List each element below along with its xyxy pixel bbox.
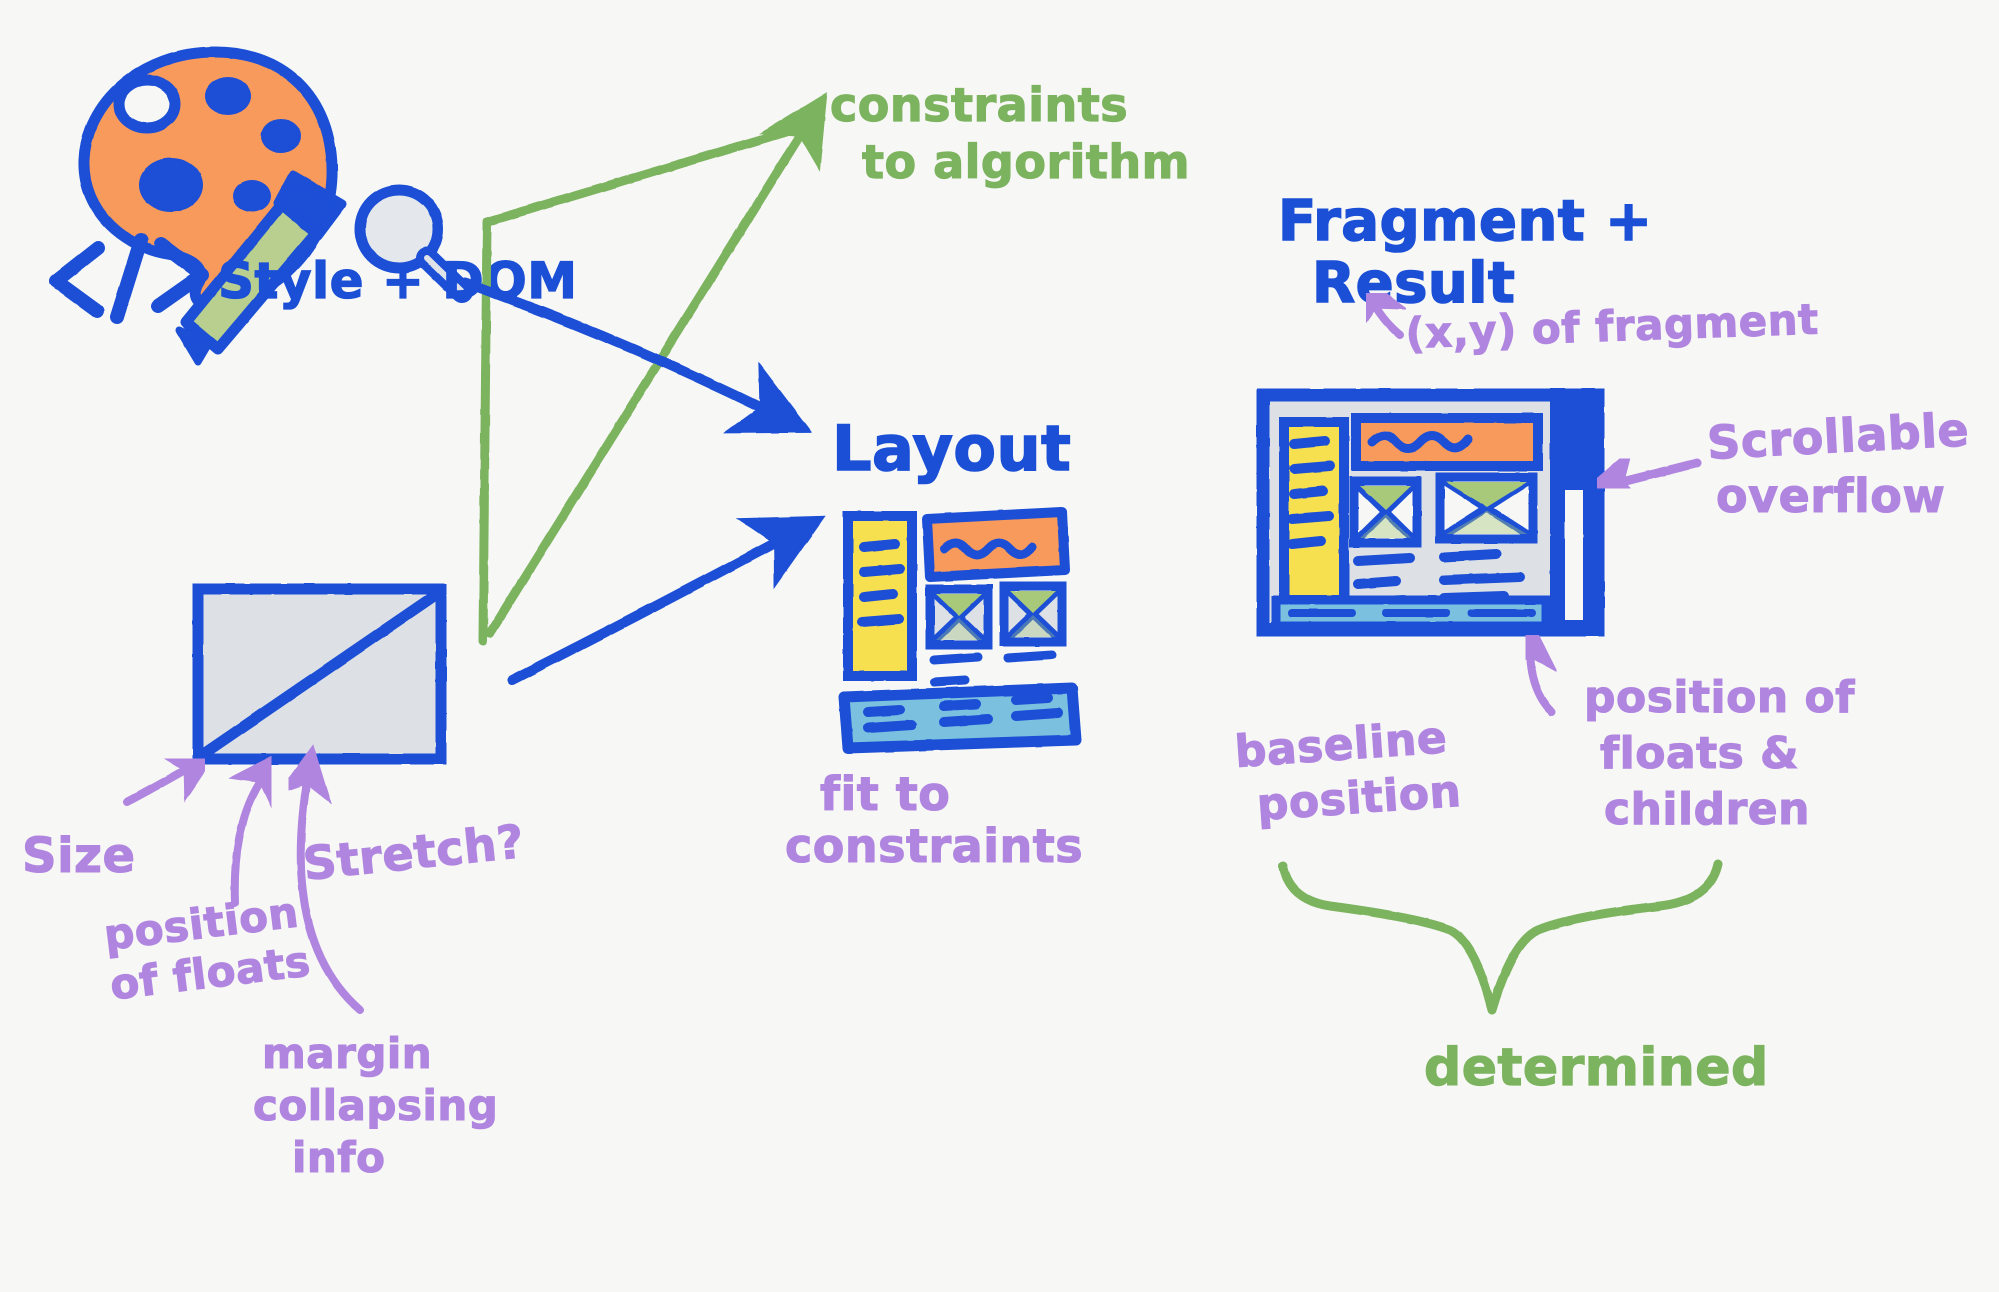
fit-to-constraints-line1: fit to [820, 767, 950, 821]
handdrawn-diagram: Style + DOM constraints to algorithm [0, 0, 1999, 1292]
floats-children-line1: position of [1584, 672, 1855, 723]
determined-label: determined [1424, 1038, 1769, 1098]
size-label: Size [22, 828, 136, 884]
constraints-label-line1: constraints [830, 78, 1128, 132]
margin-collapsing-line3: info [292, 1133, 385, 1182]
floats-children-line2: floats & [1600, 728, 1799, 779]
constraint-box-icon [198, 589, 441, 759]
fragment-result-line1: Fragment + [1278, 189, 1653, 254]
floats-children-line3: children [1604, 784, 1810, 835]
constraints-label-line2: to algorithm [862, 135, 1190, 189]
browser-mockup-layout-icon [844, 512, 1076, 748]
layout-title: Layout [832, 412, 1071, 485]
fit-to-constraints-line2: constraints [785, 819, 1083, 873]
scrollable-overflow-line2: overflow [1716, 469, 1945, 523]
browser-mockup-fragment-icon [1263, 390, 1598, 633]
diagram-canvas: Style + DOM constraints to algorithm [0, 0, 1999, 1292]
margin-collapsing-line1: margin [262, 1029, 432, 1078]
margin-collapsing-line2: collapsing [253, 1081, 498, 1130]
